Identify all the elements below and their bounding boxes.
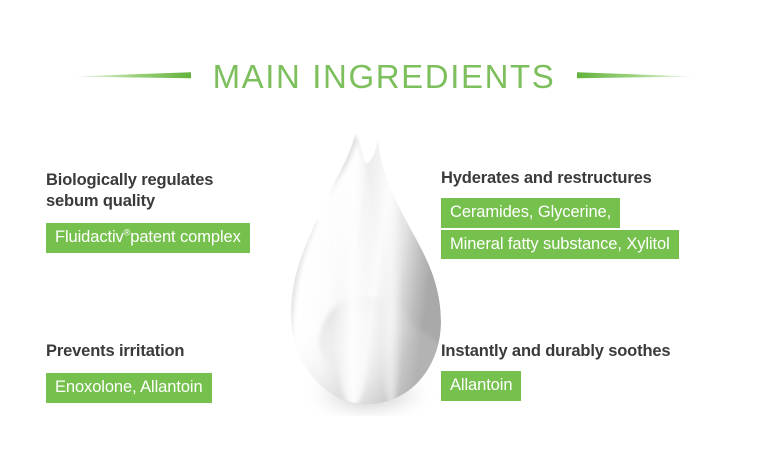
tag-list: Enoxolone, Allantoin xyxy=(46,373,212,403)
ingredient-tag: Allantoin xyxy=(441,371,521,401)
block-heading: Instantly and durably soothes xyxy=(441,341,670,362)
tag-list: Ceramides, Glycerine, Mineral fatty subs… xyxy=(441,198,679,259)
ingredient-tag: Enoxolone, Allantoin xyxy=(46,373,212,403)
ingredient-block-soothe: Instantly and durably soothes Allantoin xyxy=(441,341,670,401)
tag-list: Fluidactiv®patent complex xyxy=(46,223,250,253)
tapered-rule-right-icon xyxy=(577,70,697,82)
tag-list: Allantoin xyxy=(441,371,670,401)
tag-text-pre: Fluidactiv xyxy=(55,228,124,246)
ingredient-tag: Mineral fatty substance, Xylitol xyxy=(441,230,679,260)
page-title: MAIN INGREDIENTS xyxy=(213,60,556,93)
tag-text-post: patent complex xyxy=(130,228,241,246)
blob-body xyxy=(283,126,458,416)
ingredient-block-hydrate: Hyderates and restructures Ceramides, Gl… xyxy=(441,168,679,259)
ingredient-block-irritation: Prevents irritation Enoxolone, Allantoin xyxy=(46,341,212,403)
cream-dollop-image xyxy=(283,126,458,416)
title-band: MAIN INGREDIENTS xyxy=(0,52,768,100)
block-heading: Prevents irritation xyxy=(46,341,212,362)
block-heading: Hyderates and restructures xyxy=(441,168,679,189)
tapered-rule-left-icon xyxy=(71,70,191,82)
ingredient-tag: Fluidactiv®patent complex xyxy=(46,223,250,253)
ingredient-tag: Ceramides, Glycerine, xyxy=(441,198,620,228)
block-heading: Biologically regulates sebum quality xyxy=(46,170,250,212)
ingredient-block-sebum: Biologically regulates sebum quality Flu… xyxy=(46,170,250,253)
